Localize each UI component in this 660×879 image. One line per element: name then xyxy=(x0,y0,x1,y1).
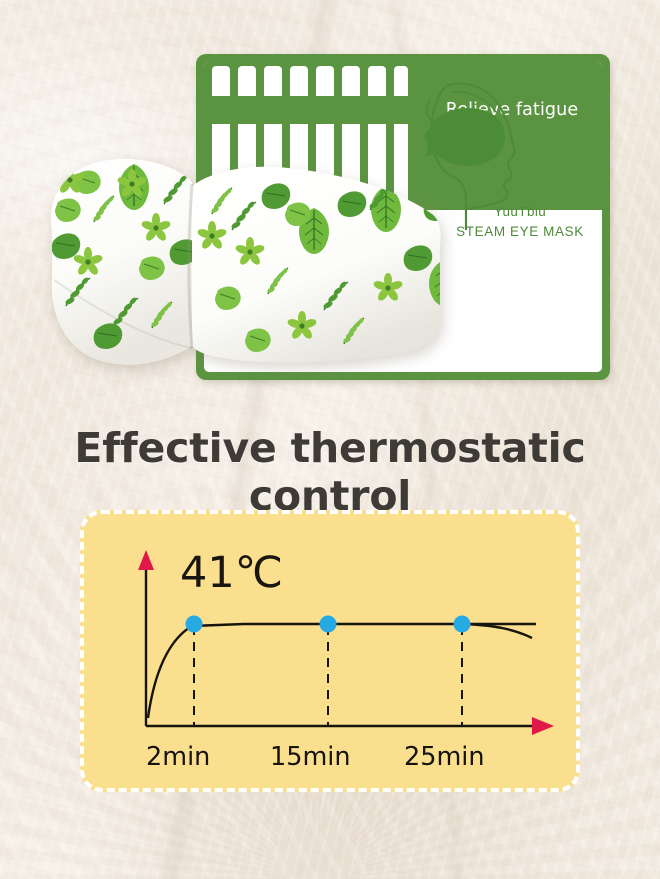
brand-block: YuuTbiu STEAM EYE MASK xyxy=(440,204,600,239)
y-axis-arrow xyxy=(138,550,154,570)
temperature-curve-rise xyxy=(148,624,536,718)
x-tick-label-25min: 25min xyxy=(404,742,485,772)
x-tick-label-15min: 15min xyxy=(270,742,351,772)
temperature-curve-decline xyxy=(462,624,532,638)
brand-name: YuuTbiu xyxy=(494,204,546,219)
product-name: STEAM EYE MASK xyxy=(440,224,600,239)
data-point-2min xyxy=(186,616,203,633)
temperature-value-label: 41℃ xyxy=(180,552,283,595)
data-point-25min xyxy=(454,616,471,633)
data-point-15min xyxy=(320,616,337,633)
page-title: Effective thermostatic control xyxy=(0,424,660,520)
x-axis-arrow xyxy=(532,717,554,735)
infographic-page: Relieve fatigue xyxy=(0,0,660,879)
thermostatic-chart-card: 41℃ 2min 15min 25min xyxy=(80,510,580,792)
x-tick-label-2min: 2min xyxy=(146,742,210,772)
product-hero: Relieve fatigue xyxy=(0,0,660,410)
steam-eye-mask-product-photo xyxy=(36,140,456,390)
